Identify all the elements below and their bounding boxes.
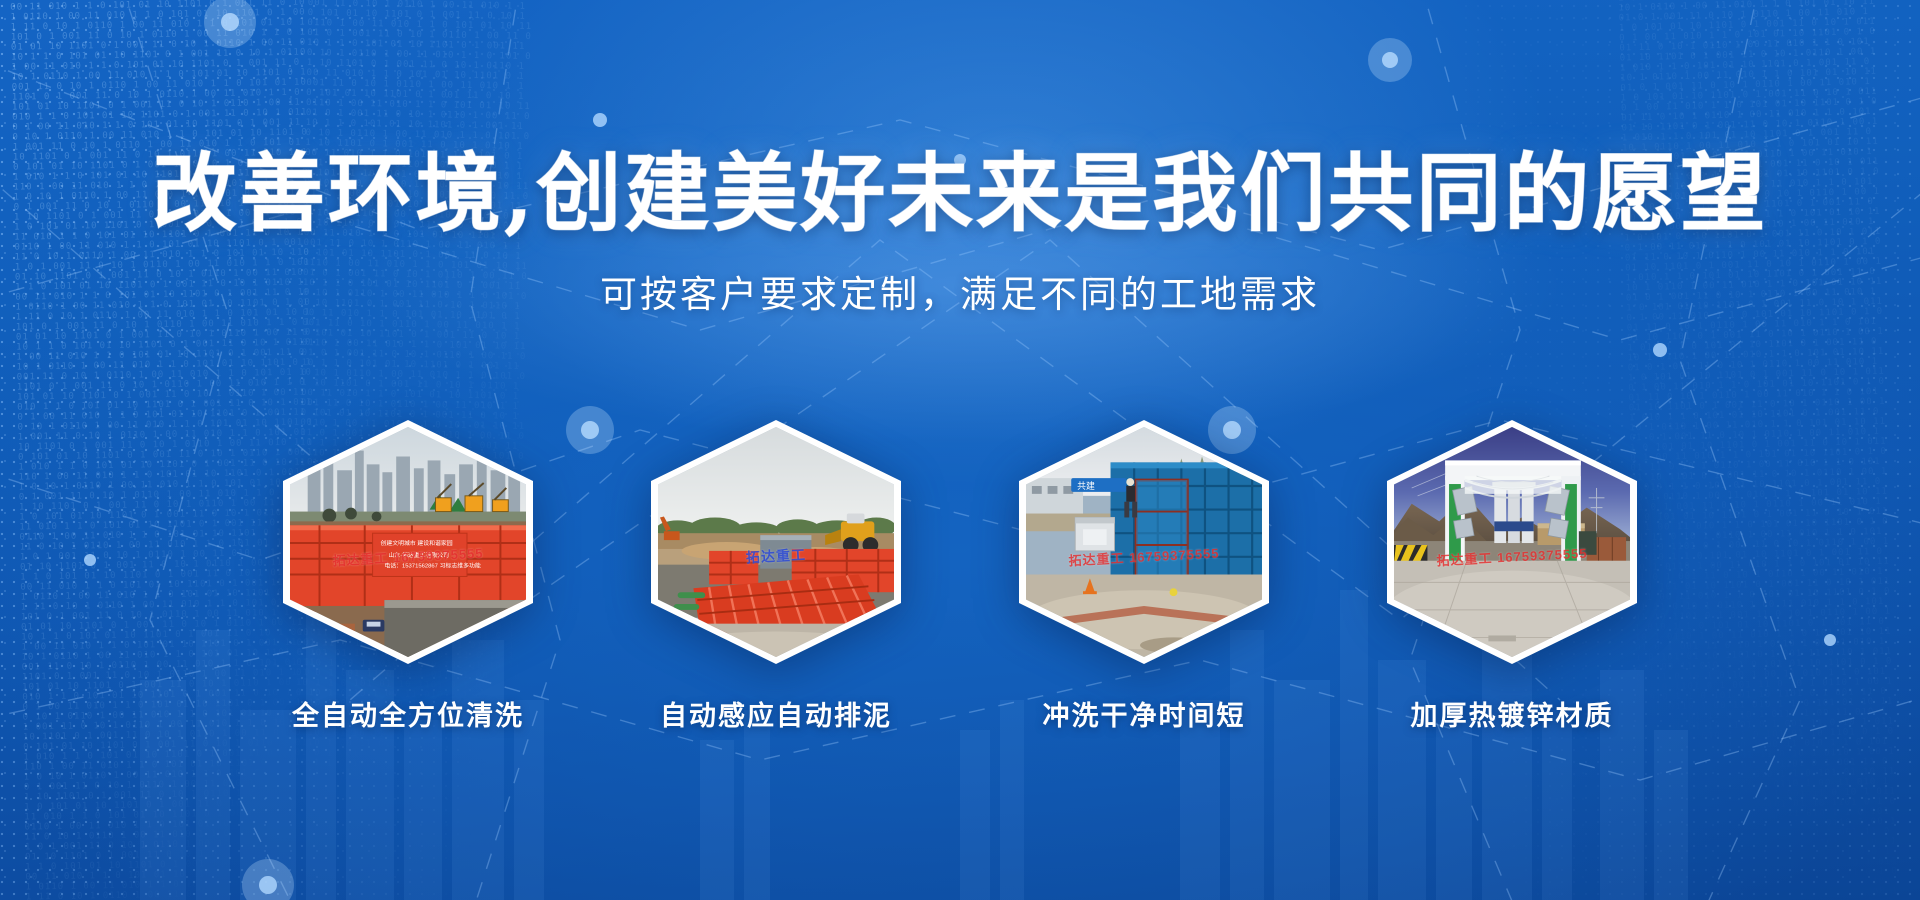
hexagon-photo-frame[interactable]: 创建文明城市 建设和谐家园 山东·拓达重工有限公司 电话：15371562867…	[283, 420, 533, 664]
feature-card-label: 加厚热镀锌材质	[1411, 694, 1614, 733]
svg-text:创建文明城市 建设和谐家园: 创建文明城市 建设和谐家园	[380, 539, 452, 547]
feature-card[interactable]: 拓达重工 自动感应自动排泥	[651, 420, 901, 733]
feature-card-label: 冲洗干净时间短	[1043, 694, 1246, 733]
page-subtitle: 可按客户要求定制，满足不同的工地需求	[0, 264, 1920, 318]
svg-text:共建: 共建	[1077, 480, 1095, 491]
hexagon-photo-frame[interactable]: 共建	[1019, 420, 1269, 664]
feature-card[interactable]: 创建文明城市 建设和谐家园 山东·拓达重工有限公司 电话：15371562867…	[283, 420, 533, 733]
hexagon-photo-frame[interactable]: 拓达重工	[651, 420, 901, 664]
page-title: 改善环境,创建美好未来是我们共同的愿望	[0, 150, 1920, 238]
promo-banner: 01 10 1101 0 1 001 11 0 10 1 0110 1 00 1…	[0, 0, 1920, 900]
feature-card[interactable]: 拓达重工 16759375555 加厚热镀锌材质	[1387, 420, 1637, 733]
hexagon-photo-frame[interactable]: 拓达重工 16759375555	[1387, 420, 1637, 664]
feature-card[interactable]: 共建	[1019, 420, 1269, 733]
svg-text:山东·拓达重工有限公司: 山东·拓达重工有限公司	[388, 551, 449, 559]
svg-text:电话：15371562867 习标志维多功能: 电话：15371562867 习标志维多功能	[384, 562, 480, 570]
feature-card-label: 全自动全方位清洗	[292, 694, 524, 733]
feature-card-row: 创建文明城市 建设和谐家园 山东·拓达重工有限公司 电话：15371562867…	[0, 420, 1920, 733]
feature-card-label: 自动感应自动排泥	[660, 694, 892, 733]
